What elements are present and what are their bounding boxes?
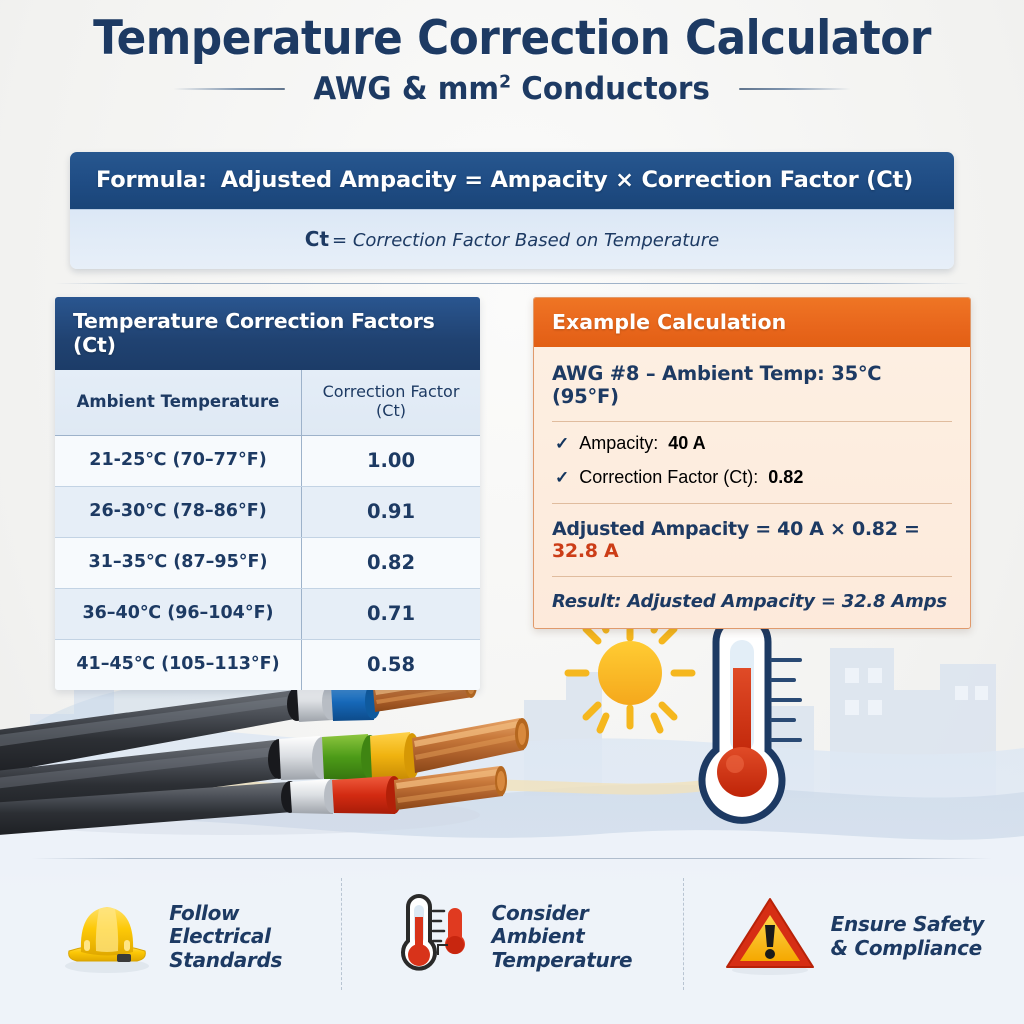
page-header: Temperature Correction Calculator AWG & …	[0, 14, 1024, 107]
cell-correction-factor: 0.91	[302, 486, 481, 537]
footer-item-label: Consider Ambient Temperature	[492, 902, 633, 973]
footer: Follow Electrical Standards	[0, 862, 1024, 1012]
formula-banner: Formula:Adjusted Ampacity = Ampacity × C…	[70, 152, 954, 209]
table-row: 31–35℃ (87–95°F) 0.82	[55, 537, 480, 588]
example-item-label: Ampacity:	[579, 433, 658, 454]
table-row: 41–45℃ (105–113°F) 0.58	[55, 639, 480, 690]
footer-label-line: Consider	[492, 901, 589, 925]
formula-note-symbol: Ct	[305, 227, 329, 251]
column-header-ambient-temperature: Ambient Temperature	[55, 370, 302, 435]
formula-note: Ct= Correction Factor Based on Temperatu…	[70, 209, 954, 269]
cell-correction-factor: 0.82	[302, 537, 481, 588]
footer-label-line: Standards	[169, 948, 282, 972]
footer-label-line: Electrical	[169, 924, 270, 948]
cell-ambient-temperature: 26-30℃ (78–86°F)	[55, 486, 302, 537]
cell-correction-factor: 0.58	[302, 639, 481, 690]
subtitle-post: Conductors	[511, 71, 710, 107]
cell-correction-factor: 1.00	[302, 435, 481, 486]
cell-ambient-temperature: 31–35℃ (87–95°F)	[55, 537, 302, 588]
example-item-value: 0.82	[768, 467, 803, 488]
footer-item-label: Ensure Safety & Compliance	[831, 913, 984, 960]
thermometer-illustration	[702, 616, 800, 820]
page-subtitle: AWG & mm2 Conductors	[314, 71, 711, 107]
column-header-correction-factor: Correction Factor (Ct)	[302, 370, 481, 435]
formula-expression: Adjusted Ampacity = Ampacity × Correctio…	[221, 167, 913, 193]
hard-hat-icon	[59, 896, 155, 979]
subtitle-superscript: 2	[499, 72, 511, 93]
footer-divider	[32, 858, 992, 859]
formula-card: Formula:Adjusted Ampacity = Ampacity × C…	[70, 152, 954, 269]
example-calculation-line: Adjusted Ampacity = 40 A × 0.82 = 32.8 A	[552, 503, 952, 577]
example-item-value: 40 A	[668, 433, 705, 454]
formula-lead-label: Formula:	[96, 167, 207, 193]
cell-ambient-temperature: 41–45℃ (105–113°F)	[55, 639, 302, 690]
example-calc-result: 32.8 A	[552, 540, 618, 562]
formula-note-text: = Correction Factor Based on Temperature	[332, 230, 719, 251]
footer-label-line: Ensure Safety	[831, 912, 984, 936]
table-header-row: Ambient Temperature Correction Factor (C…	[55, 370, 480, 435]
table-row: 21-25℃ (70–77°F) 1.00	[55, 435, 480, 486]
example-calc-prefix: Adjusted Ampacity = 40 A × 0.82 =	[552, 518, 920, 540]
footer-item-follow-electrical-standards: Follow Electrical Standards	[0, 862, 341, 1012]
subtitle-row: AWG & mm2 Conductors	[0, 71, 1024, 107]
example-item-correction-factor: ✓ Correction Factor (Ct): 0.82	[552, 456, 952, 490]
subtitle-pre: AWG & mm	[314, 71, 500, 107]
example-result-line: Result: Adjusted Ampacity = 32.8 Amps	[552, 577, 952, 612]
subtitle-rule-left	[173, 88, 285, 90]
example-body: AWG #8 – Ambient Temp: 35℃ (95°F) ✓ Ampa…	[534, 347, 970, 628]
correction-factors-table: Ambient Temperature Correction Factor (C…	[55, 370, 480, 690]
footer-item-ensure-safety-compliance: Ensure Safety & Compliance	[683, 862, 1024, 1012]
example-subject: AWG #8 – Ambient Temp: 35℃ (95°F)	[552, 362, 952, 422]
cable-illustration	[0, 672, 529, 838]
example-item-ampacity: ✓ Ampacity: 40 A	[552, 422, 952, 456]
cell-correction-factor: 0.71	[302, 588, 481, 639]
footer-item-consider-ambient-temperature: Consider Ambient Temperature	[341, 862, 682, 1012]
thermometer-icon	[392, 893, 478, 982]
check-icon: ✓	[555, 468, 569, 488]
correction-factors-panel: Temperature Correction Factors (Ct) Ambi…	[55, 297, 480, 690]
page-title: Temperature Correction Calculator	[36, 14, 988, 63]
footer-label-line: Follow	[169, 901, 239, 925]
footer-label-line: & Compliance	[831, 936, 982, 960]
table-row: 36–40℃ (96–104°F) 0.71	[55, 588, 480, 639]
example-calculation-panel: Example Calculation AWG #8 – Ambient Tem…	[533, 297, 971, 629]
sun-icon	[568, 616, 692, 730]
table-body: 21-25℃ (70–77°F) 1.00 26-30℃ (78–86°F) 0…	[55, 435, 480, 690]
example-title: Example Calculation	[534, 298, 970, 347]
warning-triangle-icon	[723, 893, 817, 982]
table-title: Temperature Correction Factors (Ct)	[55, 297, 480, 370]
footer-label-line: Ambient	[492, 924, 585, 948]
subtitle-rule-right	[739, 88, 851, 90]
cell-ambient-temperature: 36–40℃ (96–104°F)	[55, 588, 302, 639]
panel-divider	[55, 283, 969, 284]
table-row: 26-30℃ (78–86°F) 0.91	[55, 486, 480, 537]
footer-label-line: Temperature	[492, 948, 633, 972]
example-item-label: Correction Factor (Ct):	[579, 467, 758, 488]
footer-item-label: Follow Electrical Standards	[169, 902, 282, 973]
cell-ambient-temperature: 21-25℃ (70–77°F)	[55, 435, 302, 486]
check-icon: ✓	[555, 434, 569, 454]
